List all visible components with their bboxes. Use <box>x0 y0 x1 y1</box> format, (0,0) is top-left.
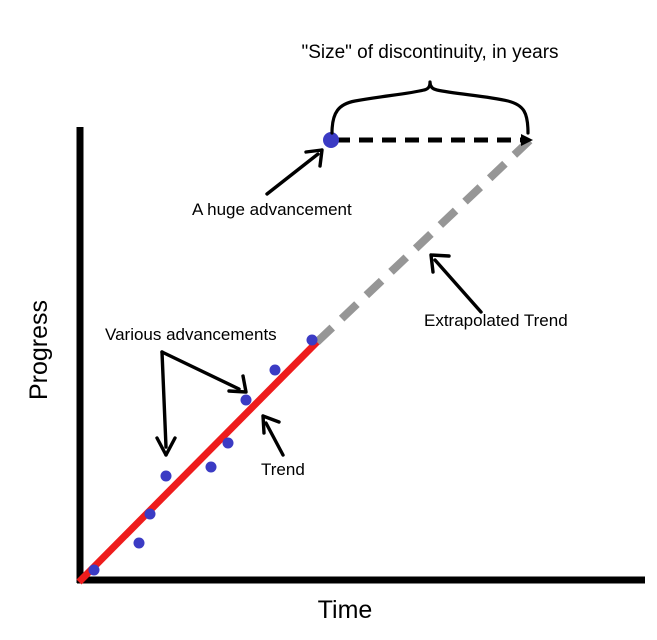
extrapolated-trend-label: Extrapolated Trend <box>424 311 568 330</box>
x-axis-title: Time <box>318 596 373 624</box>
scatter-point <box>241 395 252 406</box>
curly-brace <box>332 82 528 133</box>
various-advancements-label: Various advancements <box>105 325 277 344</box>
scatter-point <box>89 565 100 576</box>
huge-advancement-label: A huge advancement <box>192 200 352 219</box>
huge-advancement-arrow <box>267 150 322 194</box>
scatter-point <box>270 365 281 376</box>
scatter-point <box>134 538 145 549</box>
scatter-point <box>161 471 172 482</box>
trend-label: Trend <box>261 460 305 479</box>
chart-figure: "Size" of discontinuity, in years A huge… <box>0 0 657 640</box>
scatter-point <box>206 462 217 473</box>
chart-svg: "Size" of discontinuity, in years A huge… <box>0 0 657 640</box>
trend-arrow <box>263 416 283 455</box>
huge-advancement-dot <box>323 132 339 148</box>
scatter-point <box>307 335 318 346</box>
various-advancements-arrows <box>157 352 246 455</box>
discontinuity-title: "Size" of discontinuity, in years <box>301 42 558 63</box>
scatter-point <box>223 438 234 449</box>
y-axis-title: Progress <box>25 300 53 400</box>
scatter-point <box>145 509 156 520</box>
extrapolated-trend-arrow <box>431 255 481 312</box>
